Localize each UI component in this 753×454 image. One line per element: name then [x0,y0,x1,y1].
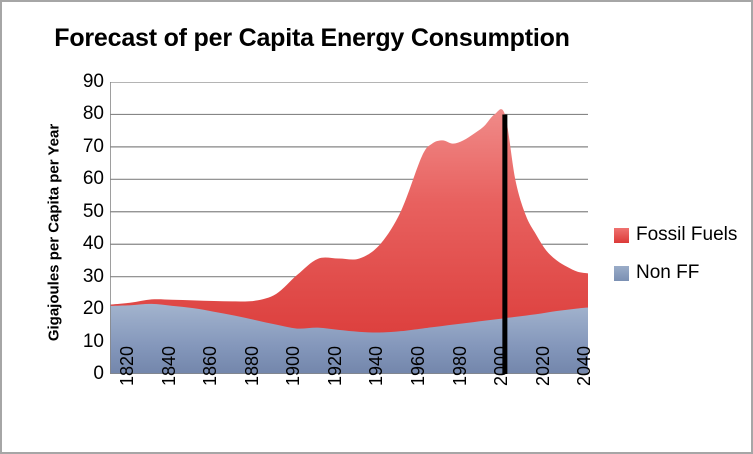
chart-legend: Fossil Fuels Non FF [614,224,749,300]
x-axis-tick-label: 1900 [284,346,302,386]
x-axis-tick-label: 1820 [118,346,136,386]
legend-label-non-ff: Non FF [636,262,699,284]
x-axis-tick-label: 1960 [409,346,427,386]
x-axis-tick-label: 1940 [367,346,385,386]
chart-container: Forecast of per Capita Energy Consumptio… [0,0,753,454]
x-axis-tick-label: 1860 [201,346,219,386]
legend-swatch-non-ff [614,266,629,281]
legend-swatch-fossil-fuels [614,228,629,243]
x-axis-tick-label: 1880 [243,346,261,386]
legend-item-fossil-fuels: Fossil Fuels [614,224,749,246]
legend-label-fossil-fuels: Fossil Fuels [636,224,737,246]
x-axis-tick-label: 2040 [575,346,593,386]
x-axis-tick-label: 1840 [160,346,178,386]
x-axis-tick-label: 1980 [451,346,469,386]
x-axis-tick-label: 2000 [492,346,510,386]
x-axis-tick-label: 2020 [534,346,552,386]
x-axis-tick-label: 1920 [326,346,344,386]
legend-item-non-ff: Non FF [614,262,749,284]
